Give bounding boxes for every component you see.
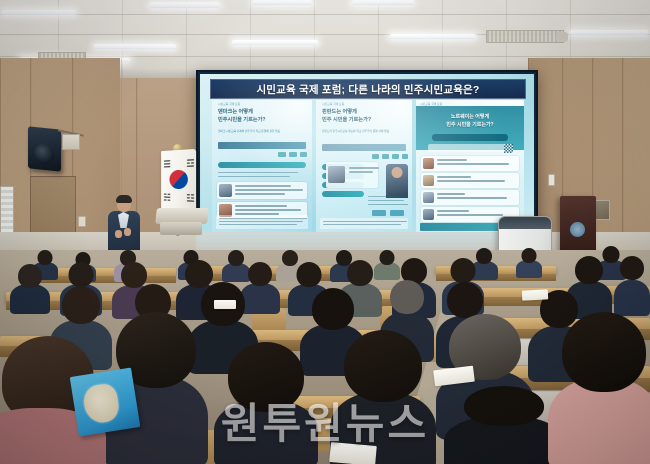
paper-handout	[329, 442, 377, 464]
projection-screen: 시민교육 국제 포럼; 다른 나라의 민주시민교육은? 시민교육 국제 포럼 덴…	[196, 70, 538, 238]
panel-date-band	[432, 134, 508, 141]
wall-outlet	[548, 174, 555, 186]
slide-speaker-item	[421, 190, 519, 205]
panel-footer	[320, 218, 408, 229]
paper-handout	[214, 300, 236, 309]
light-switch[interactable]	[78, 216, 86, 227]
audience-member	[10, 264, 50, 310]
ceiling-vent	[486, 30, 564, 43]
panel-date-band	[322, 144, 406, 151]
map-handout	[70, 368, 141, 437]
presenter	[104, 196, 144, 254]
wall-vent	[62, 134, 80, 150]
korean-flag	[161, 149, 196, 213]
framed-picture	[594, 200, 610, 220]
photo-scene: 시민교육 국제 포럼; 다른 나라의 민주시민교육은? 시민교육 국제 포럼 덴…	[0, 0, 650, 464]
panel-date-band	[218, 142, 306, 149]
flag-base	[160, 222, 202, 235]
slide-panel-finland: 시민교육 국제 포럼 핀란드는 어떻게 민주 시민을 기르는가? 핀란드의 민주…	[316, 100, 412, 232]
audience-member	[614, 256, 650, 310]
speaker-icon	[28, 126, 61, 171]
audience-member	[444, 386, 564, 464]
audience-member	[516, 248, 542, 276]
panel-kicker: 시민교육 국제 포럼	[322, 102, 344, 106]
panel-subtext: 덴마크 시민교육 사례와 민주주의 학교 운영에 관한 발표	[218, 130, 306, 134]
slide-speaker-item	[421, 173, 519, 188]
panel-footer	[216, 215, 308, 229]
audience-member	[548, 312, 650, 464]
panel-kicker: 시민교육 국제 포럼	[218, 102, 240, 106]
ceiling-light	[2, 10, 76, 15]
ceiling-light	[94, 44, 176, 49]
slide-speaker-item	[421, 156, 519, 171]
slide-speaker-item	[217, 182, 307, 199]
panel-heading: 노르웨이는 어떻게 민주 시민을 기르는가?	[420, 114, 520, 130]
lectern-emblem	[570, 222, 585, 237]
slide-panel-norway: 시민교육 국제 포럼 노르웨이는 어떻게 민주 시민을 기르는가?	[416, 100, 524, 232]
ceiling-light	[352, 0, 414, 5]
ceiling-light	[570, 30, 648, 35]
slide-speaker-item	[326, 162, 378, 188]
ceiling-light	[232, 40, 318, 45]
slide-photo-person	[386, 164, 408, 198]
panel-heading: 핀란드는 어떻게 민주 시민을 기르는가?	[322, 108, 406, 124]
projector-housing	[556, 32, 568, 42]
paper-handout	[522, 289, 548, 300]
audience-member	[214, 342, 318, 464]
panel-heading: 덴마크는 어떻게 민주시민을 기르는가?	[218, 108, 306, 124]
ceiling-light	[150, 2, 220, 8]
ceiling-light	[390, 34, 476, 39]
taeguk-symbol	[166, 167, 191, 193]
map-graphic	[81, 382, 121, 425]
ceiling-light	[252, 0, 312, 5]
slide-title: 시민교육 국제 포럼; 다른 나라의 민주시민교육은?	[210, 79, 526, 99]
panel-subtext: 핀란드의 민주시민교육 제도와 학교 민주주의 운영 사례 발표	[322, 130, 406, 134]
slide-panel-denmark: 시민교육 국제 포럼 덴마크는 어떻게 민주시민을 기르는가? 덴마크 시민교육…	[212, 100, 312, 232]
